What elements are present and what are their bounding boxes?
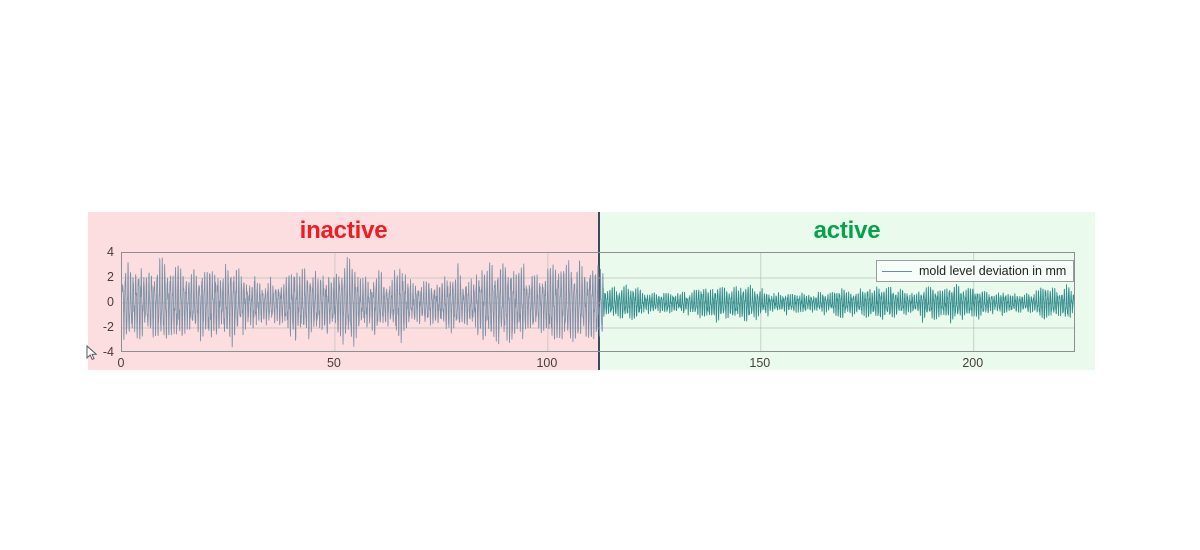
x-tick-label: 50 [304,356,364,370]
mouse-pointer-icon [86,345,98,361]
legend-line-swatch [882,271,912,272]
y-tick-label: -2 [86,321,114,333]
plot-legend[interactable]: mold level deviation in mm [876,260,1074,282]
mold-level-figure: inactive active 4 2 0 -2 -4 0 50 100 150… [0,0,1200,550]
trace-inactive [122,257,603,347]
x-tick-label: 100 [517,356,577,370]
y-tick-label: 0 [86,296,114,308]
x-tick-label: 200 [943,356,1003,370]
y-tick-label: 4 [86,246,114,258]
x-tick-label: 0 [91,356,151,370]
x-tick-label: 150 [730,356,790,370]
region-label-active: active [599,216,1095,246]
y-tick-label: 2 [86,271,114,283]
trace-active [603,284,1074,323]
legend-label: mold level deviation in mm [919,264,1066,278]
region-label-inactive: inactive [88,216,599,246]
